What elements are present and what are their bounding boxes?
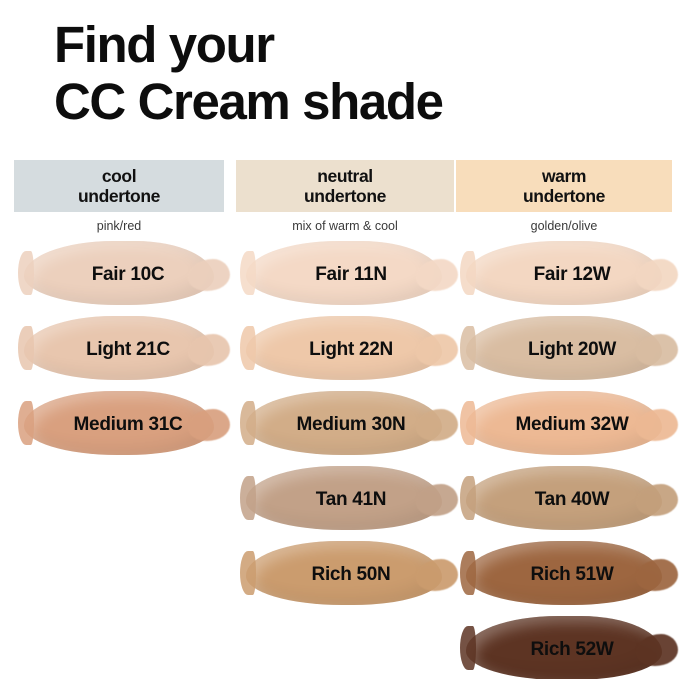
undertone-column-warm: warm undertone golden/olive Fair 12W Lig… [456,160,672,679]
column-header-warm-line-2: undertone [460,187,668,207]
shade-blob [246,241,442,305]
shade-blob [466,316,662,380]
undertone-column-cool: cool undertone pink/red Fair 10C Light 2… [14,160,224,463]
column-header-warm-line-1: warm [460,167,668,187]
shade-blob [24,391,214,455]
shade-blob [246,541,442,605]
swatch-item[interactable]: Fair 11N [236,238,454,312]
shade-blob [466,391,662,455]
swatch-list-warm: Fair 12W Light 20W Medium 32W Tan 40W Ri… [456,238,672,679]
undertone-column-neutral: neutral undertone mix of warm & cool Fai… [236,160,454,613]
column-subtitle-neutral: mix of warm & cool [236,212,454,238]
column-header-warm: warm undertone [456,160,672,212]
swatch-item[interactable]: Light 21C [14,313,224,387]
swatch-list-neutral: Fair 11N Light 22N Medium 30N Tan 41N Ri… [236,238,454,612]
page-title-line-2: CC Cream shade [54,73,654,130]
shade-blob [466,616,662,679]
swatch-item[interactable]: Light 20W [456,313,672,387]
swatch-item[interactable]: Medium 30N [236,388,454,462]
swatch-item[interactable]: Rich 51W [456,538,672,612]
column-header-cool: cool undertone [14,160,224,212]
column-subtitle-cool: pink/red [14,212,224,238]
swatch-item[interactable]: Medium 32W [456,388,672,462]
swatch-item[interactable]: Medium 31C [14,388,224,462]
swatch-item[interactable]: Light 22N [236,313,454,387]
swatch-item[interactable]: Fair 12W [456,238,672,312]
shade-blob [24,316,214,380]
shade-blob [246,316,442,380]
column-header-cool-line-1: cool [18,167,220,187]
swatch-item[interactable]: Rich 52W [456,613,672,679]
shade-blob [246,466,442,530]
shade-blob [466,241,662,305]
column-subtitle-warm: golden/olive [456,212,672,238]
page-title: Find your CC Cream shade [54,16,654,130]
column-header-neutral-line-1: neutral [240,167,450,187]
undertone-columns: cool undertone pink/red Fair 10C Light 2… [0,160,679,679]
swatch-item[interactable]: Tan 41N [236,463,454,537]
shade-blob [246,391,442,455]
column-header-cool-line-2: undertone [18,187,220,207]
swatch-item[interactable]: Fair 10C [14,238,224,312]
shade-blob [466,466,662,530]
shade-blob [24,241,214,305]
shade-finder-page: Find your CC Cream shade cool undertone … [0,0,679,679]
swatch-item[interactable]: Tan 40W [456,463,672,537]
swatch-item[interactable]: Rich 50N [236,538,454,612]
shade-blob [466,541,662,605]
swatch-list-cool: Fair 10C Light 21C Medium 31C [14,238,224,462]
page-title-line-1: Find your [54,16,654,73]
column-header-neutral: neutral undertone [236,160,454,212]
column-header-neutral-line-2: undertone [240,187,450,207]
